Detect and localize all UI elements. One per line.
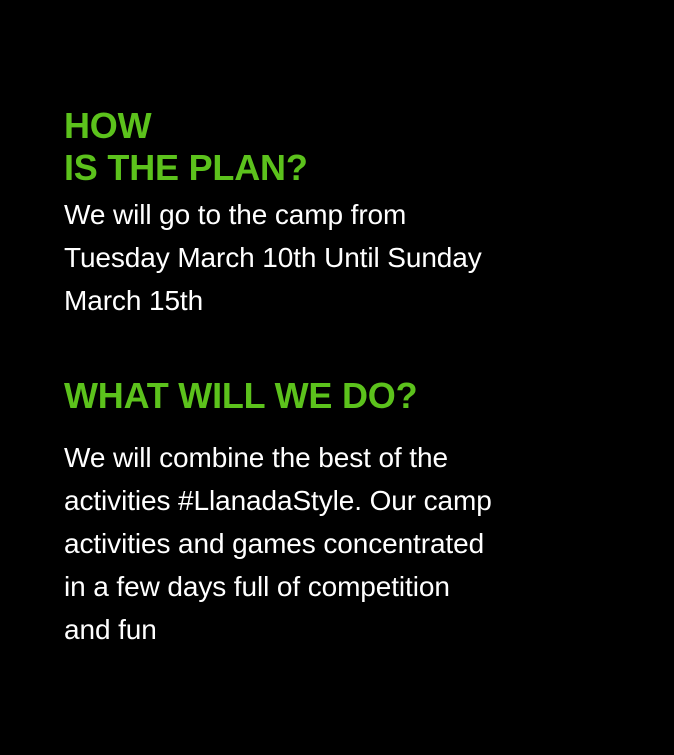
heading-line-is-the-plan: IS THE PLAN? xyxy=(64,147,564,189)
body-line: activities #LlanadaStyle. Our camp xyxy=(64,479,564,522)
heading-line-how: HOW xyxy=(64,105,564,147)
body-line: We will combine the best of the xyxy=(64,436,564,479)
heading-line-what-will-we-do: WHAT WILL WE DO? xyxy=(64,375,564,417)
paragraph-how-is-the-plan: We will go to the camp from Tuesday Marc… xyxy=(64,193,564,322)
section-how-is-the-plan: HOW IS THE PLAN? We will go to the camp … xyxy=(64,105,564,322)
heading-what-will-we-do: WHAT WILL WE DO? xyxy=(64,375,564,417)
slide-root: HOW IS THE PLAN? We will go to the camp … xyxy=(0,0,674,755)
section-what-will-we-do: WHAT WILL WE DO? We will combine the bes… xyxy=(64,375,564,651)
body-line: We will go to the camp from xyxy=(64,193,564,236)
body-line: in a few days full of competition xyxy=(64,565,564,608)
paragraph-what-will-we-do: We will combine the best of the activiti… xyxy=(64,436,564,651)
body-line: activities and games concentrated xyxy=(64,522,564,565)
content-column: HOW IS THE PLAN? We will go to the camp … xyxy=(64,105,564,651)
body-line: March 15th xyxy=(64,279,564,322)
body-line: and fun xyxy=(64,608,564,651)
body-line: Tuesday March 10th Until Sunday xyxy=(64,236,564,279)
heading-how-is-the-plan: HOW IS THE PLAN? xyxy=(64,105,564,189)
